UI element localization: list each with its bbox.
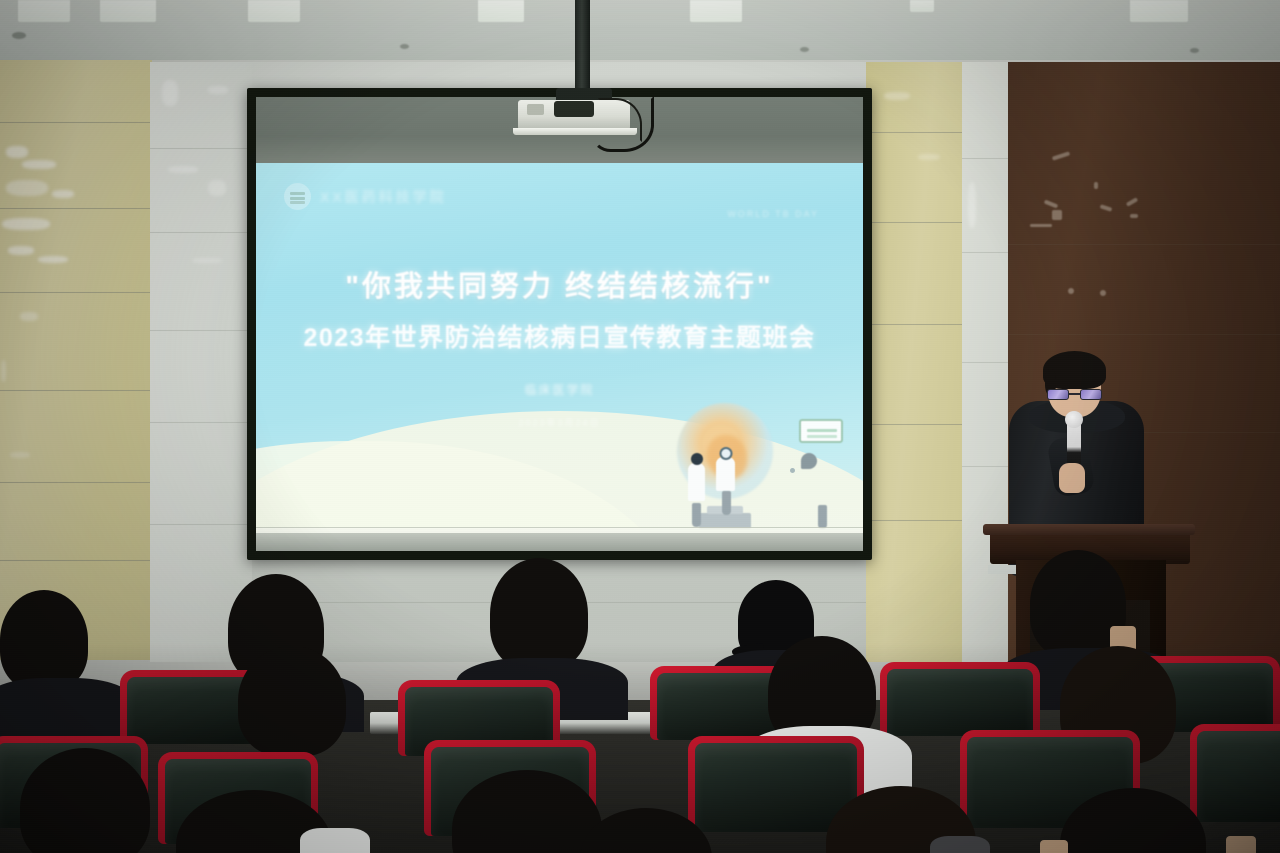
seat-cushion xyxy=(1197,731,1280,822)
illustration-leg-icon xyxy=(818,505,827,529)
presenter-hand xyxy=(1059,463,1085,493)
ceiling-sprinkler-icon xyxy=(400,44,409,49)
school-crest-icon xyxy=(284,183,311,210)
ceiling-light xyxy=(478,0,524,22)
glasses-lens-left xyxy=(1047,389,1069,400)
ceiling-light xyxy=(100,0,156,22)
slide-subtitle: 2023年世界防治结核病日宣传教育主题班会 xyxy=(256,318,863,354)
glasses-lens-right xyxy=(1080,389,1102,400)
presenter-hair xyxy=(1043,351,1106,389)
audience-neck xyxy=(1226,836,1256,853)
ceiling xyxy=(0,0,1280,66)
illustration-leg-icon xyxy=(722,491,731,515)
audience-head xyxy=(0,590,88,690)
projector-mount-pole xyxy=(575,0,590,96)
ceiling-light xyxy=(248,0,300,22)
ceiling-sprinkler-icon xyxy=(1190,48,1199,53)
auditorium-seat[interactable] xyxy=(1190,724,1280,822)
slide-title: "你我共同努力 终结结核流行" xyxy=(256,263,863,305)
microphone-head-icon xyxy=(1065,411,1083,428)
slide-logo: XX医药科技学院 xyxy=(284,183,447,210)
slide-logo-text: XX医药科技学院 xyxy=(320,187,447,207)
illustration-nurse-icon xyxy=(716,457,735,491)
auditorium-seat[interactable] xyxy=(880,662,1040,736)
seat-cushion xyxy=(887,669,1033,736)
screen-surface: XX医药科技学院 WORLD TB DAY "你我共同努力 终结结核流行" 20… xyxy=(256,97,863,551)
illustration-figure-icon xyxy=(801,453,817,469)
illustration-head-icon xyxy=(719,447,732,460)
ceiling-light xyxy=(690,0,742,22)
ceiling-sprinkler-icon xyxy=(12,32,26,39)
ceiling-sprinkler-icon xyxy=(800,47,809,52)
ceiling-light xyxy=(18,0,70,22)
projection-screen[interactable]: XX医药科技学院 WORLD TB DAY "你我共同努力 终结结核流行" 20… xyxy=(247,88,872,560)
illustration-dot-icon xyxy=(790,468,795,473)
lecture-hall-scene: XX医药科技学院 WORLD TB DAY "你我共同努力 终结结核流行" 20… xyxy=(0,0,1280,853)
audience-neck xyxy=(1040,840,1068,853)
audience-head xyxy=(238,646,346,756)
illustration-board-icon xyxy=(799,419,843,443)
illustration-leg-icon xyxy=(692,503,701,527)
slide-watermark: WORLD TB DAY xyxy=(727,209,819,219)
illustration-head-icon xyxy=(691,453,703,465)
lectern-top xyxy=(983,524,1195,535)
illustration-doctor-icon xyxy=(688,463,705,501)
audience-sleeve xyxy=(930,836,990,853)
projector-adjuster xyxy=(554,101,594,117)
ceiling-light xyxy=(910,0,934,12)
audience-area xyxy=(0,540,1280,853)
projected-slide: XX医药科技学院 WORLD TB DAY "你我共同努力 终结结核流行" 20… xyxy=(256,163,863,551)
audience-sleeve xyxy=(300,828,370,853)
audience-shoulders xyxy=(0,678,134,736)
glasses-icon xyxy=(1047,389,1102,400)
audience-head xyxy=(490,558,588,670)
slide-illustration xyxy=(621,393,851,543)
ceiling-light xyxy=(1130,0,1188,22)
projector-lens-icon xyxy=(527,104,544,115)
